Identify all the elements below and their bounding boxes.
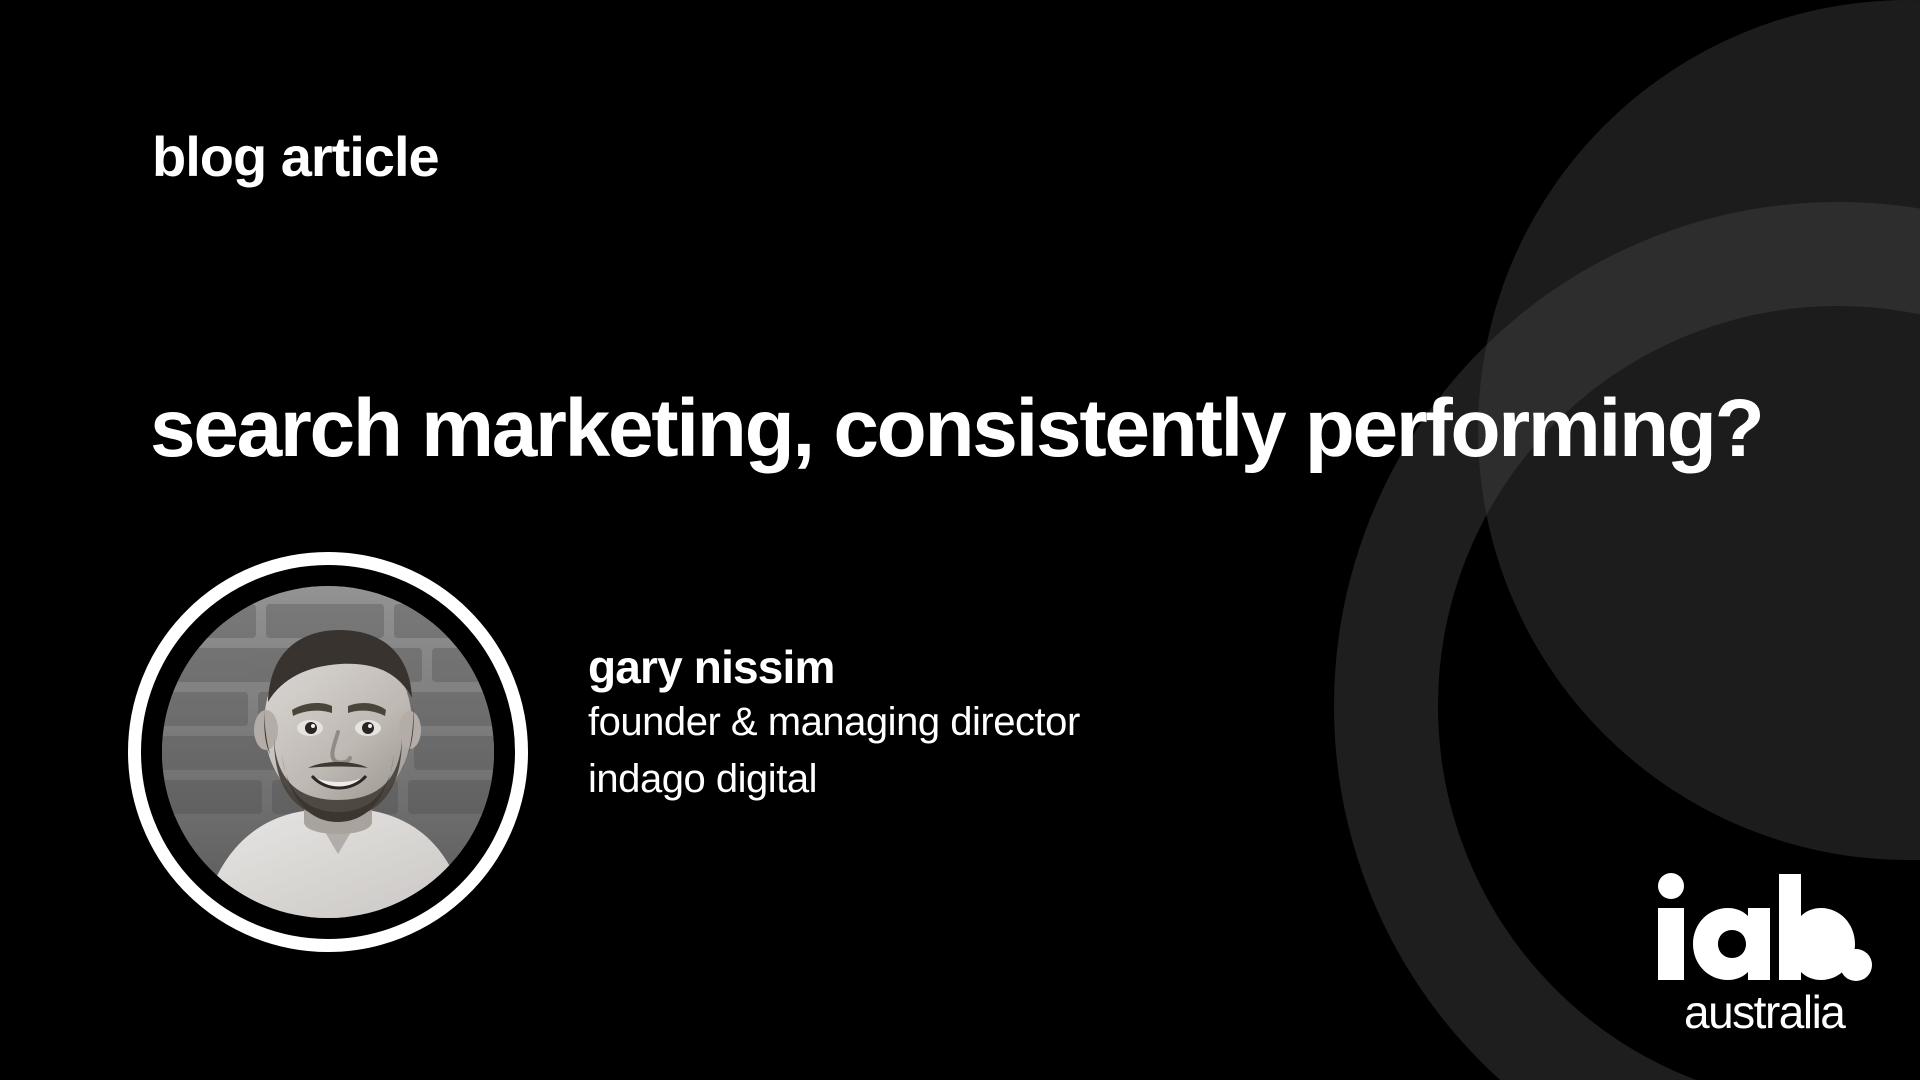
slide-canvas: blog article search marketing, consisten… [0, 0, 1920, 1080]
avatar-ring-border [128, 552, 528, 952]
logo-australia-word: australia [1684, 986, 1846, 1036]
logo-period-dot [1840, 949, 1872, 981]
speaker-details: gary nissim founder & managing director … [588, 640, 1080, 808]
iab-australia-logo: australia [1648, 872, 1876, 1036]
eyebrow-label: blog article [152, 128, 439, 187]
avatar [128, 552, 528, 952]
speaker-role: founder & managing director [588, 694, 1080, 751]
page-title: search marketing, consistently performin… [150, 385, 1762, 474]
speaker-name: gary nissim [588, 640, 1080, 694]
svg-text:australia: australia [1684, 986, 1846, 1036]
speaker-organisation: indago digital [588, 751, 1080, 808]
iab-logo-mark: australia [1648, 872, 1876, 1036]
logo-i-dot [1658, 873, 1684, 899]
logo-i-stem [1658, 908, 1684, 980]
logo-letter-a [1693, 908, 1770, 980]
